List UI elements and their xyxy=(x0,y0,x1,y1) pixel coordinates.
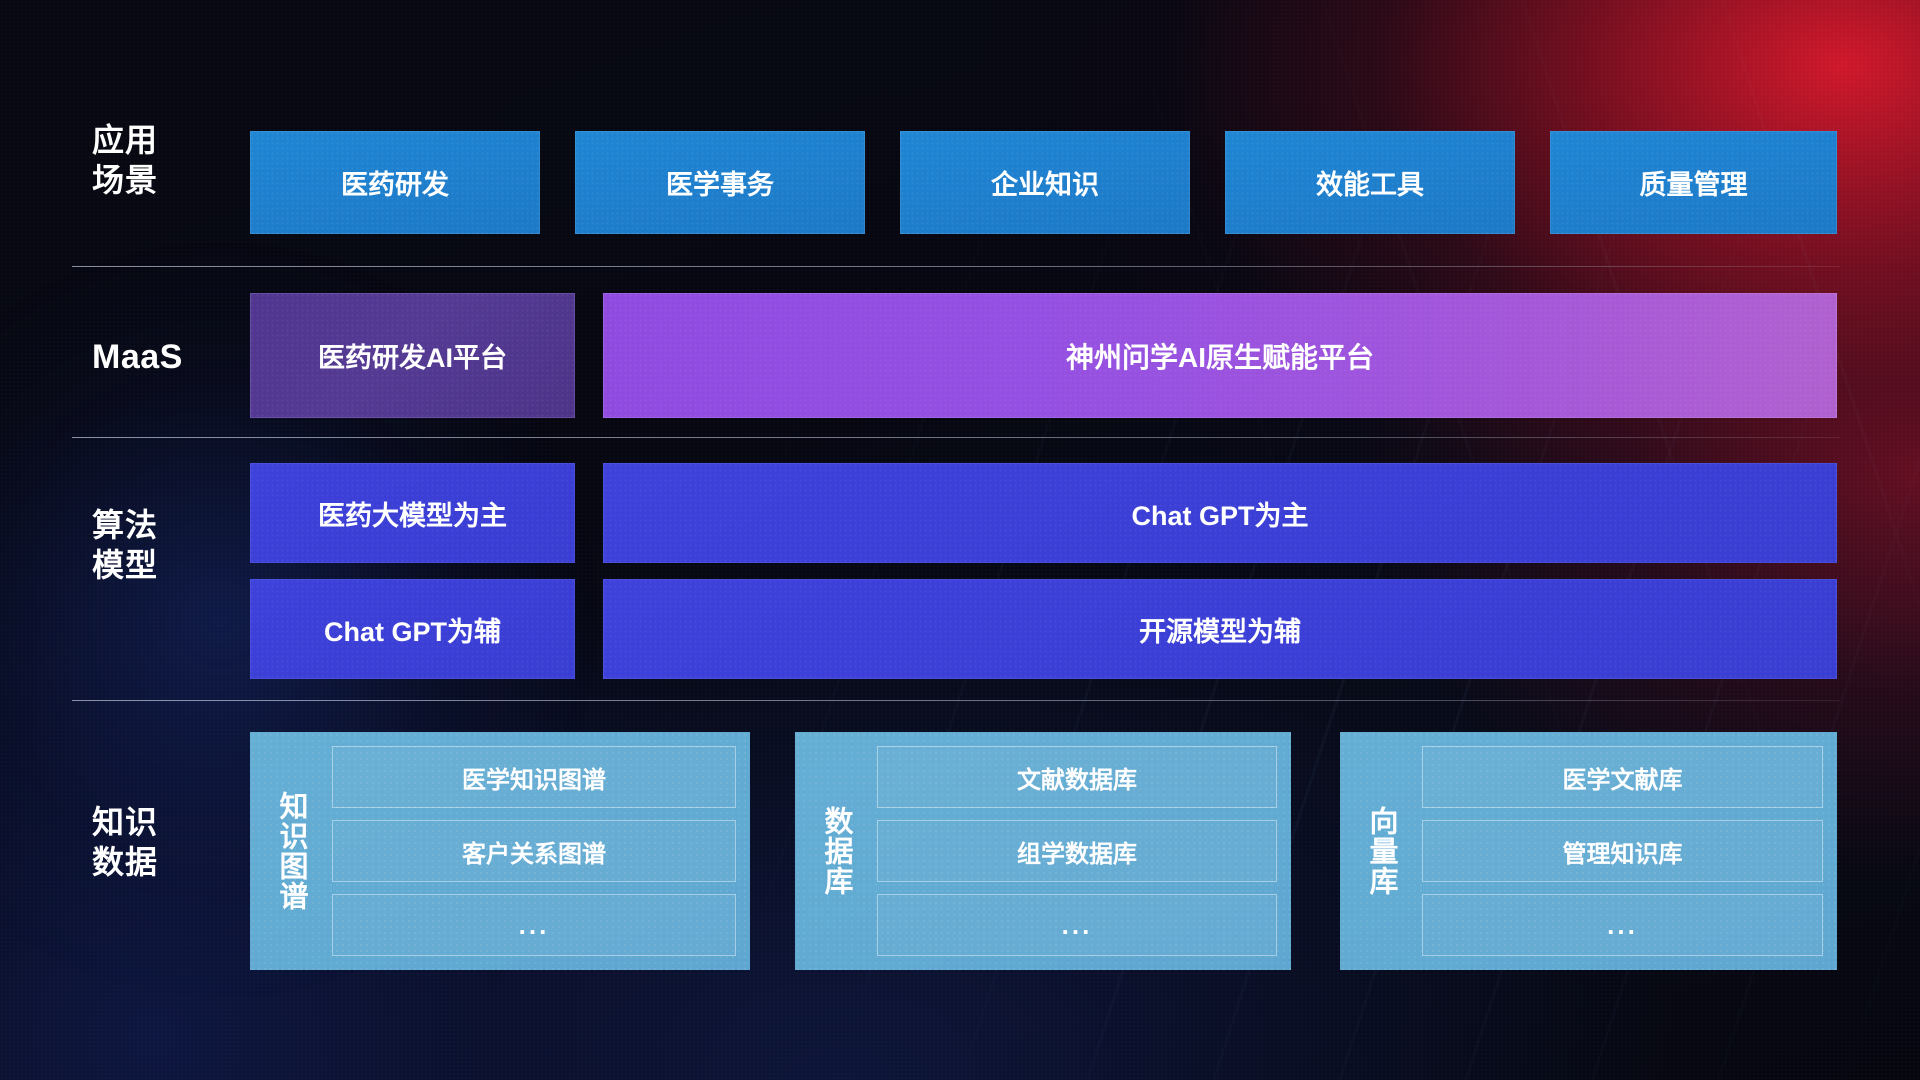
divider-maas-algorithm xyxy=(72,437,1840,438)
knowledge-panel-knowledge-graph[interactable]: 知识图谱 医学知识图谱 客户关系图谱 ... xyxy=(250,732,750,970)
app-card-label: 企业知识 xyxy=(991,163,1099,202)
knowledge-item[interactable]: 医学知识图谱 xyxy=(332,746,736,808)
knowledge-panel-title: 向量库 xyxy=(1350,746,1412,956)
knowledge-item[interactable]: 医学文献库 xyxy=(1422,746,1823,808)
algo-card-label: 医药大模型为主 xyxy=(318,494,507,533)
app-card-3[interactable]: 效能工具 xyxy=(1225,131,1515,234)
architecture-diagram: 应用 场景 医药研发 医学事务 企业知识 效能工具 质量管理 MaaS 医药研发… xyxy=(0,0,1920,1080)
knowledge-panel-items: 文献数据库 组学数据库 ... xyxy=(867,746,1277,956)
algo-card-row1-left[interactable]: 医药大模型为主 xyxy=(250,463,575,563)
knowledge-panel-items: 医学文献库 管理知识库 ... xyxy=(1412,746,1823,956)
divider-algorithm-knowledge xyxy=(72,700,1840,701)
row-label-application: 应用 场景 xyxy=(92,120,242,200)
knowledge-item[interactable]: 管理知识库 xyxy=(1422,820,1823,882)
algo-card-label: 开源模型为辅 xyxy=(1139,610,1301,649)
app-card-2[interactable]: 企业知识 xyxy=(900,131,1190,234)
knowledge-panel-title: 知识图谱 xyxy=(260,746,322,956)
algo-card-row2-right[interactable]: 开源模型为辅 xyxy=(603,579,1837,679)
maas-card-medical-ai-platform[interactable]: 医药研发AI平台 xyxy=(250,293,575,418)
maas-card-label: 医药研发AI平台 xyxy=(318,336,507,375)
maas-card-label: 神州问学AI原生赋能平台 xyxy=(1066,336,1374,376)
algo-card-label: Chat GPT为主 xyxy=(1131,494,1308,533)
knowledge-item-more[interactable]: ... xyxy=(1422,894,1823,956)
row-label-knowledge: 知识 数据 xyxy=(92,802,242,882)
algo-card-label: Chat GPT为辅 xyxy=(324,610,501,649)
knowledge-panel-database[interactable]: 数据库 文献数据库 组学数据库 ... xyxy=(795,732,1291,970)
app-card-1[interactable]: 医学事务 xyxy=(575,131,865,234)
app-card-label: 医药研发 xyxy=(341,163,449,202)
app-card-label: 效能工具 xyxy=(1316,163,1424,202)
divider-application-maas xyxy=(72,266,1840,267)
algo-card-row1-right[interactable]: Chat GPT为主 xyxy=(603,463,1837,563)
row-label-maas: MaaS xyxy=(92,337,242,377)
knowledge-panel-items: 医学知识图谱 客户关系图谱 ... xyxy=(322,746,736,956)
knowledge-item-more[interactable]: ... xyxy=(332,894,736,956)
algo-card-row2-left[interactable]: Chat GPT为辅 xyxy=(250,579,575,679)
diagram-content: 应用 场景 医药研发 医学事务 企业知识 效能工具 质量管理 MaaS 医药研发… xyxy=(0,0,1920,1080)
knowledge-item-more[interactable]: ... xyxy=(877,894,1277,956)
maas-card-shenzhou-wenxue-platform[interactable]: 神州问学AI原生赋能平台 xyxy=(603,293,1837,418)
knowledge-panel-vector-store[interactable]: 向量库 医学文献库 管理知识库 ... xyxy=(1340,732,1837,970)
knowledge-item[interactable]: 组学数据库 xyxy=(877,820,1277,882)
knowledge-item[interactable]: 文献数据库 xyxy=(877,746,1277,808)
app-card-0[interactable]: 医药研发 xyxy=(250,131,540,234)
app-card-4[interactable]: 质量管理 xyxy=(1550,131,1837,234)
knowledge-panel-title: 数据库 xyxy=(805,746,867,956)
app-card-label: 质量管理 xyxy=(1640,163,1748,202)
knowledge-item[interactable]: 客户关系图谱 xyxy=(332,820,736,882)
row-label-algorithm: 算法 模型 xyxy=(92,505,242,585)
app-card-label: 医学事务 xyxy=(666,163,774,202)
